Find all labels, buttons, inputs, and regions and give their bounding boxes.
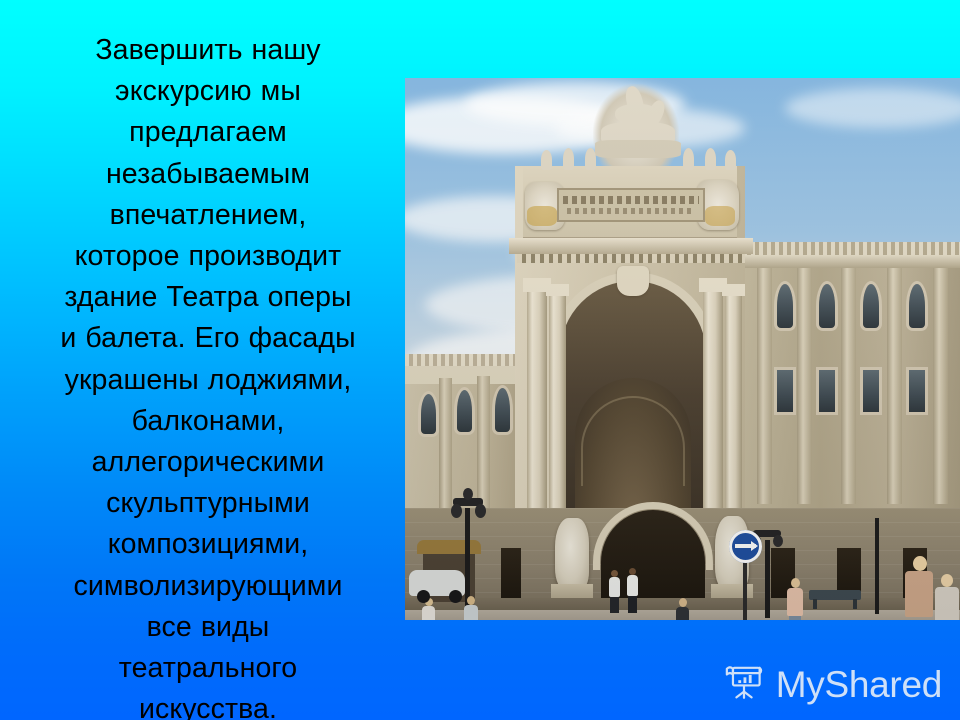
body-line: символизирующими xyxy=(22,566,394,607)
window xyxy=(457,390,472,432)
car-wheel xyxy=(449,590,462,603)
presentation-slide: Завершить нашу экскурсию мы предлагаем н… xyxy=(0,0,960,720)
lamp-post xyxy=(765,540,770,618)
pedestrian-head xyxy=(629,568,636,575)
keystone xyxy=(617,266,649,296)
window xyxy=(863,284,879,328)
pedestrian-body xyxy=(464,605,478,620)
pedestrian-body xyxy=(676,607,689,620)
column xyxy=(725,294,742,542)
acroterion xyxy=(563,148,574,170)
body-line: все виды xyxy=(22,607,394,648)
body-line: украшены лоджиями, xyxy=(22,360,394,401)
body-line: и балета. Его фасады xyxy=(22,318,394,359)
pedestrian-head xyxy=(913,556,927,571)
body-line: театрального xyxy=(22,648,394,689)
column xyxy=(527,290,547,542)
window xyxy=(819,284,835,328)
lamp-globe xyxy=(773,535,783,547)
body-line: Завершить нашу xyxy=(22,30,394,71)
window xyxy=(495,388,510,432)
kiosk-awning xyxy=(417,540,481,554)
pedestrian-body xyxy=(935,587,959,620)
pedestrian-legs xyxy=(789,616,801,620)
window xyxy=(909,284,925,328)
slide-body-text: Завершить нашу экскурсию мы предлагаем н… xyxy=(22,30,394,720)
pedestrian-head xyxy=(611,570,618,577)
window xyxy=(777,370,793,412)
pedestrian-head xyxy=(679,598,687,607)
body-line: предлагаем xyxy=(22,112,394,153)
presentation-chart-icon xyxy=(723,664,765,704)
gilded-relief-panel xyxy=(705,206,735,226)
body-line: впечатлением, xyxy=(22,195,394,236)
sculptural-group-left xyxy=(555,518,589,590)
pedestrian-legs xyxy=(610,597,619,613)
quadriga-base xyxy=(595,140,681,158)
pilaster xyxy=(933,268,948,504)
body-line: экскурсию мы xyxy=(22,71,394,112)
lamp-globe xyxy=(451,504,462,518)
pedestrian-body xyxy=(422,606,435,620)
pilaster xyxy=(439,378,452,508)
window xyxy=(777,284,793,328)
column xyxy=(549,294,566,542)
column xyxy=(703,290,723,542)
acroterion xyxy=(541,150,552,170)
bench-leg xyxy=(813,599,817,609)
pedestrian-head xyxy=(467,596,475,605)
inscription-frieze xyxy=(557,188,705,222)
right-wing-balustrade xyxy=(743,242,960,255)
body-line: скульптурными xyxy=(22,483,394,524)
sign-arrow-head xyxy=(751,541,758,551)
pilaster xyxy=(841,268,856,504)
body-line: композициями, xyxy=(22,524,394,565)
pilaster xyxy=(887,268,902,504)
pilaster xyxy=(757,268,772,504)
opera-theatre-photo xyxy=(405,78,960,620)
acroterion xyxy=(585,148,596,170)
acroterion xyxy=(725,150,736,170)
pedestrian-body xyxy=(627,575,638,596)
gilded-relief-panel xyxy=(527,206,557,226)
pedestrian-head xyxy=(791,578,800,588)
pedestrian-legs xyxy=(628,596,637,613)
pedestrian-body xyxy=(787,588,803,616)
frieze-inscription xyxy=(567,208,693,214)
body-line: незабываемым xyxy=(22,154,394,195)
bench-leg xyxy=(853,599,857,609)
body-line: искусства. xyxy=(22,689,394,720)
window xyxy=(909,370,925,412)
acroterion xyxy=(683,148,694,170)
lamp-globe xyxy=(475,504,486,518)
car-wheel xyxy=(417,590,430,603)
column-capital xyxy=(546,284,569,296)
column-capital xyxy=(722,284,745,296)
pilaster xyxy=(477,376,490,508)
lamp-globe xyxy=(463,488,473,500)
lamp-post xyxy=(875,518,879,614)
cloud xyxy=(785,88,960,128)
body-line: здание Театра оперы xyxy=(22,277,394,318)
main-cornice xyxy=(509,238,753,254)
quadriga-figure xyxy=(615,104,659,124)
pilaster xyxy=(797,268,812,504)
pedestrian-head xyxy=(941,574,953,587)
body-line: аллегорическими xyxy=(22,442,394,483)
myshared-watermark[interactable]: MyShared xyxy=(723,664,942,704)
window xyxy=(819,370,835,412)
myshared-label: MyShared xyxy=(776,666,942,703)
dentil-course xyxy=(517,254,745,263)
frieze-inscription xyxy=(563,196,699,204)
body-line: которое производит xyxy=(22,236,394,277)
window xyxy=(421,394,436,434)
body-line: балконами, xyxy=(22,401,394,442)
acroterion xyxy=(705,148,716,170)
pedestrian-body xyxy=(609,577,620,597)
window xyxy=(863,370,879,412)
pedestrian-body xyxy=(905,571,933,617)
right-wing-cornice xyxy=(743,254,960,268)
